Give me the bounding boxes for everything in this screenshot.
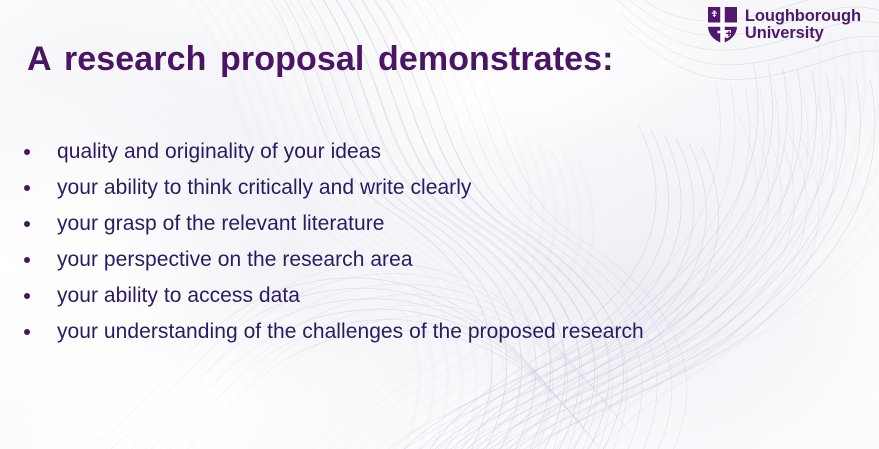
- list-item: your grasp of the relevant literature: [16, 206, 856, 242]
- list-item-label: quality and originality of your ideas: [57, 140, 381, 164]
- logo-wordmark-line2: University: [745, 25, 861, 42]
- bullet-dot-icon: [24, 185, 30, 191]
- list-item-label: your perspective on the research area: [57, 248, 413, 272]
- shield-crest-icon: [707, 6, 738, 44]
- list-item-label: your understanding of the challenges of …: [57, 320, 644, 344]
- bullet-dot-icon: [24, 329, 30, 335]
- list-item-label: your ability to think critically and wri…: [57, 176, 471, 200]
- loughborough-university-logo: Loughborough University: [707, 6, 861, 44]
- slide: Loughborough University A research propo…: [0, 0, 879, 449]
- bullet-dot-icon: [24, 257, 30, 263]
- bullet-dot-icon: [24, 293, 30, 299]
- list-item: your understanding of the challenges of …: [16, 314, 856, 350]
- slide-title: A research proposal demonstrates:: [27, 40, 614, 79]
- bullet-dot-icon: [24, 149, 30, 155]
- list-item-label: your grasp of the relevant literature: [57, 212, 385, 236]
- list-item: quality and originality of your ideas: [16, 134, 856, 170]
- bullet-list: quality and originality of your ideas yo…: [16, 134, 856, 350]
- list-item: your perspective on the research area: [16, 242, 856, 278]
- bullet-dot-icon: [24, 221, 30, 227]
- logo-wordmark: Loughborough University: [745, 8, 861, 43]
- list-item-label: your ability to access data: [57, 284, 300, 308]
- list-item: your ability to access data: [16, 278, 856, 314]
- logo-wordmark-line1: Loughborough: [745, 8, 861, 25]
- list-item: your ability to think critically and wri…: [16, 170, 856, 206]
